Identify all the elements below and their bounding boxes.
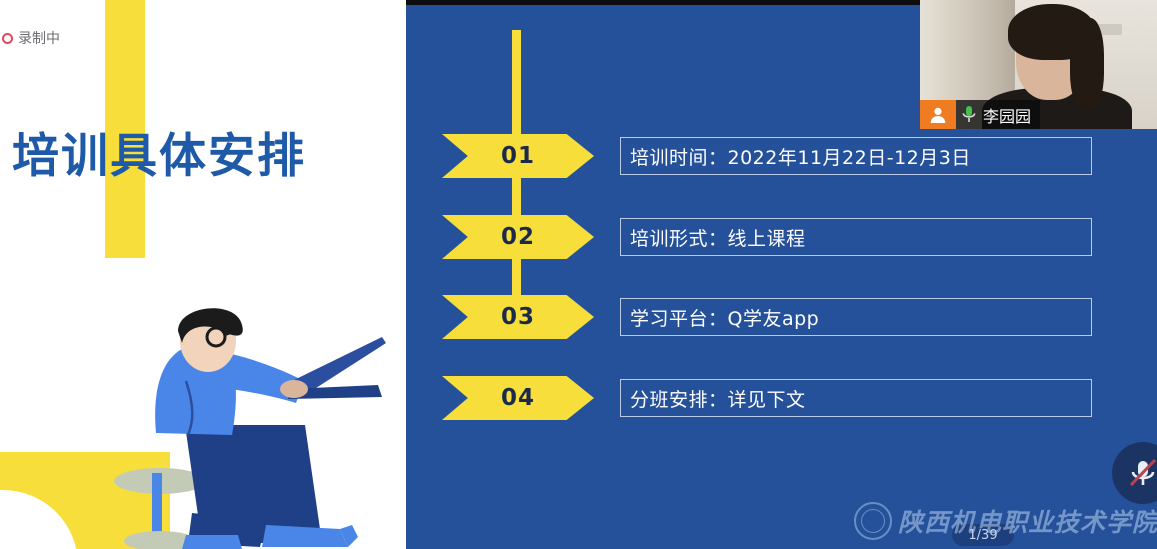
watermark: 陕西机电职业技术学院 — [854, 500, 1154, 542]
person-with-laptop-illustration — [90, 285, 406, 549]
step-text-box-01: 培训时间：2022年11月22日-12月3日 — [620, 137, 1092, 175]
participant-nametag: 李园园 — [920, 100, 1040, 129]
step-arrow-02: 02 — [442, 215, 594, 259]
step-text-box-02: 培训形式：线上课程 — [620, 218, 1092, 256]
slide-left-panel: 培训具体安排 — [0, 0, 406, 549]
participant-name: 李园园 — [982, 103, 1040, 127]
microphone-muted-icon — [1126, 456, 1157, 490]
video-person-hair-side — [1070, 18, 1104, 110]
recording-badge: 录制中 — [0, 26, 70, 50]
step-number: 03 — [442, 295, 594, 339]
record-dot-icon — [2, 33, 13, 44]
step-number: 04 — [442, 376, 594, 420]
step-number: 02 — [442, 215, 594, 259]
step-number: 01 — [442, 134, 594, 178]
participant-video-tile[interactable]: 李园园 — [920, 0, 1157, 129]
microphone-on-icon — [956, 100, 982, 129]
step-arrow-03: 03 — [442, 295, 594, 339]
recording-label: 录制中 — [18, 28, 60, 48]
university-seal-icon — [854, 502, 892, 540]
watermark-text: 陕西机电职业技术学院 — [898, 503, 1157, 539]
step-text-box-03: 学习平台：Q学友app — [620, 298, 1092, 336]
step-arrow-01: 01 — [442, 134, 594, 178]
person-icon — [920, 100, 956, 129]
step-arrow-04: 04 — [442, 376, 594, 420]
screen-share-viewport: 培训具体安排 — [0, 0, 1157, 549]
step-text-box-04: 分班安排：详见下文 — [620, 379, 1092, 417]
slide-title: 培训具体安排 — [12, 122, 392, 192]
